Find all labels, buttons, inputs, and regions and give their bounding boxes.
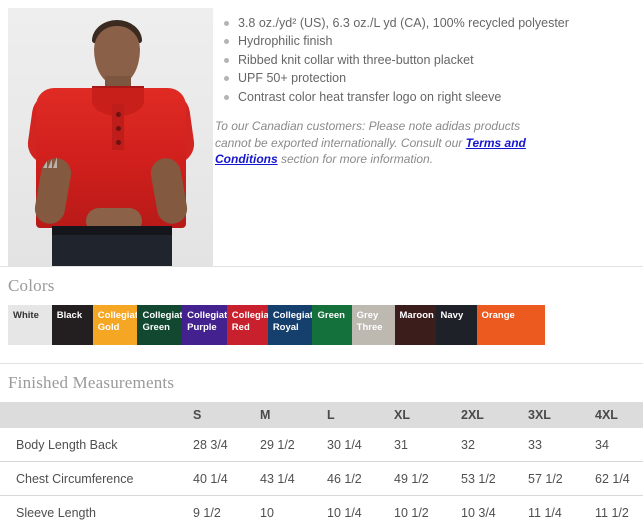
polo-button-2	[116, 126, 121, 131]
measurement-cell: 30 1/4	[327, 428, 394, 462]
color-swatch-row: WhiteBlackCollegiate GoldCollegiate Gree…	[8, 305, 545, 345]
polo-button-1	[116, 112, 121, 117]
color-swatch[interactable]: Maroon	[395, 305, 436, 345]
measurement-cell: 34	[595, 428, 643, 462]
table-row: Sleeve Length9 1/21010 1/410 1/210 3/411…	[0, 496, 643, 529]
table-col-header-size: XL	[394, 402, 461, 428]
color-swatch-label: Black	[57, 310, 82, 321]
feature-item: UPF 50+ protection	[215, 69, 633, 87]
color-swatch-label: Navy	[441, 310, 464, 321]
measurement-cell: 43 1/4	[260, 462, 327, 496]
measurements-heading: Finished Measurements	[0, 364, 643, 402]
feature-item: Contrast color heat transfer logo on rig…	[215, 88, 633, 106]
measurement-cell: 53 1/2	[461, 462, 528, 496]
table-col-header-size: L	[327, 402, 394, 428]
measurement-cell: 62 1/4	[595, 462, 643, 496]
measurement-cell: 10 1/4	[327, 496, 394, 529]
measurement-row-label: Body Length Back	[0, 428, 193, 462]
measurement-cell: 10 3/4	[461, 496, 528, 529]
feature-item: Hydrophilic finish	[215, 32, 633, 50]
color-swatch-label: White	[13, 310, 39, 321]
table-col-header-size: 2XL	[461, 402, 528, 428]
color-swatch-label: Orange	[482, 310, 515, 321]
measurement-cell: 11 1/2	[595, 496, 643, 529]
measurement-row-label: Sleeve Length	[0, 496, 193, 529]
measurements-table-body: Body Length Back28 3/429 1/230 1/4313233…	[0, 428, 643, 529]
color-swatch[interactable]: Collegiate Green	[137, 305, 182, 345]
color-swatch-label: Green	[317, 310, 344, 321]
measurement-cell: 28 3/4	[193, 428, 260, 462]
color-swatch-label: Collegiate Gold	[98, 310, 138, 333]
color-swatch[interactable]: White	[8, 305, 52, 345]
color-swatch[interactable]: Navy	[436, 305, 477, 345]
table-col-header-size: 3XL	[528, 402, 595, 428]
adidas-logo-icon	[43, 156, 57, 168]
measurement-cell: 49 1/2	[394, 462, 461, 496]
colors-block: WhiteBlackCollegiate GoldCollegiate Gree…	[0, 305, 643, 363]
table-col-header-size: 4XL	[595, 402, 643, 428]
color-swatch[interactable]: Collegiate Purple	[182, 305, 227, 345]
color-swatch[interactable]: Collegiate Red	[227, 305, 268, 345]
product-specs: 3.8 oz./yd² (US), 6.3 oz./L yd (CA), 100…	[213, 8, 643, 180]
measurement-cell: 11 1/4	[528, 496, 595, 529]
measurement-cell: 9 1/2	[193, 496, 260, 529]
feature-item: Ribbed knit collar with three-button pla…	[215, 51, 633, 69]
model-belt	[52, 226, 172, 235]
table-col-header-size: S	[193, 402, 260, 428]
feature-list: 3.8 oz./yd² (US), 6.3 oz./L yd (CA), 100…	[215, 14, 633, 106]
measurement-row-label: Chest Circumference	[0, 462, 193, 496]
measurement-cell: 10	[260, 496, 327, 529]
canadian-customers-note: To our Canadian customers: Please note a…	[215, 118, 533, 168]
color-swatch[interactable]: Orange	[477, 305, 545, 345]
color-swatch-label: Collegiate Green	[142, 310, 182, 333]
color-swatch-label: Grey Three	[357, 310, 383, 333]
polo-button-3	[116, 140, 121, 145]
colors-heading: Colors	[0, 267, 643, 305]
measurement-cell: 40 1/4	[193, 462, 260, 496]
product-overview: 3.8 oz./yd² (US), 6.3 oz./L yd (CA), 100…	[0, 0, 643, 266]
color-swatch-label: Collegiate Royal	[273, 310, 313, 333]
product-image[interactable]	[8, 8, 213, 266]
color-swatch-label: Collegiate Red	[232, 310, 268, 333]
measurement-cell: 31	[394, 428, 461, 462]
feature-item: 3.8 oz./yd² (US), 6.3 oz./L yd (CA), 100…	[215, 14, 633, 32]
table-header-row: SMLXL2XL3XL4XL	[0, 402, 643, 428]
table-row: Chest Circumference40 1/443 1/446 1/249 …	[0, 462, 643, 496]
color-swatch[interactable]: Collegiate Gold	[93, 305, 138, 345]
table-col-header-size: M	[260, 402, 327, 428]
color-swatch-label: Maroon	[400, 310, 434, 321]
measurement-cell: 10 1/2	[394, 496, 461, 529]
color-swatch[interactable]: Collegiate Royal	[268, 305, 313, 345]
measurement-cell: 57 1/2	[528, 462, 595, 496]
color-swatch[interactable]: Black	[52, 305, 93, 345]
product-photo-red-polo	[8, 8, 213, 266]
table-col-header-blank	[0, 402, 193, 428]
measurements-table-head: SMLXL2XL3XL4XL	[0, 402, 643, 428]
measurement-cell: 46 1/2	[327, 462, 394, 496]
measurement-cell: 29 1/2	[260, 428, 327, 462]
measurements-table: SMLXL2XL3XL4XL Body Length Back28 3/429 …	[0, 402, 643, 529]
measurements-block: SMLXL2XL3XL4XL Body Length Back28 3/429 …	[0, 402, 643, 529]
measurement-cell: 32	[461, 428, 528, 462]
note-text-after: section for more information.	[278, 152, 433, 166]
color-swatch[interactable]: Green	[312, 305, 351, 345]
color-swatch-label: Collegiate Purple	[187, 310, 227, 333]
measurement-cell: 33	[528, 428, 595, 462]
color-swatch[interactable]: Grey Three	[352, 305, 395, 345]
table-row: Body Length Back28 3/429 1/230 1/4313233…	[0, 428, 643, 462]
